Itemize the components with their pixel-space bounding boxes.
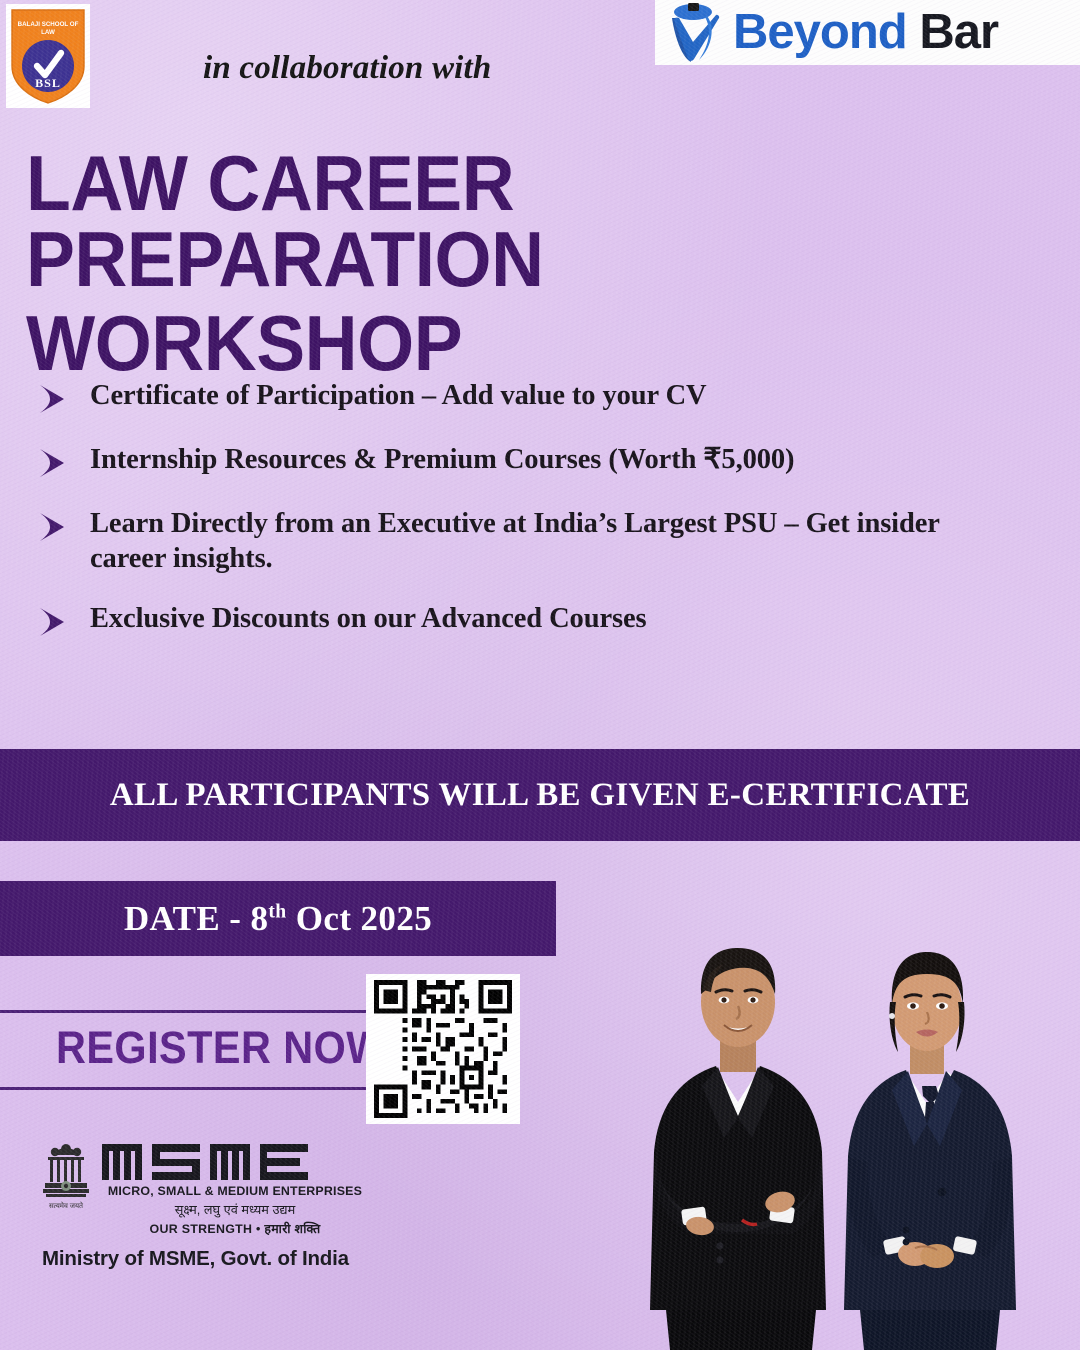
list-item: Internship Resources & Premium Courses (… [34, 442, 994, 480]
collaboration-label: in collaboration with [203, 50, 491, 87]
title-line-2: WORKSHOP [26, 306, 872, 382]
page-title: LAW CAREER PREPARATION WORKSHOP [26, 146, 872, 382]
woman-figure [844, 952, 1016, 1350]
beyond-bar-figure-icon [663, 2, 735, 64]
list-item: Certificate of Participation – Add value… [34, 378, 994, 416]
msme-line-3: OUR STRENGTH • हमारी शक्ति [102, 1220, 368, 1237]
date-badge: DATE - 8th Oct 2025 [0, 881, 556, 956]
svg-text:LAW: LAW [41, 29, 55, 36]
poster-root: BALAJI SCHOOL OF LAW BSL DISCIPLINE DEDI… [0, 0, 1080, 1350]
bar-word: Bar [919, 5, 998, 59]
msme-line-1: MICRO, SMALL & MEDIUM ENTERPRISES [102, 1184, 368, 1198]
msme-wordmark [102, 1140, 368, 1182]
svg-text:BALAJI SCHOOL OF: BALAJI SCHOOL OF [18, 21, 79, 28]
msme-logo-block: सत्यमेव जयते [38, 1138, 368, 1271]
benefit-text: Exclusive Discounts on our Advanced Cour… [90, 601, 647, 636]
beyond-bar-logo: Beyond Bar [655, 0, 1080, 65]
arrow-bullet-icon [34, 446, 76, 480]
msme-line-2: सूक्ष्म, लघु एवं मध्यम उद्यम [102, 1200, 368, 1218]
register-divider-bottom [0, 1087, 366, 1090]
arrow-bullet-icon [34, 605, 76, 639]
ashoka-emblem-icon: सत्यमेव जयते [38, 1138, 94, 1216]
date-ordinal: th [268, 901, 286, 922]
arrow-bullet-icon [34, 382, 76, 416]
certificate-banner: ALL PARTICIPANTS WILL BE GIVEN E-CERTIFI… [0, 749, 1080, 841]
benefits-list: Certificate of Participation – Add value… [34, 378, 994, 665]
two-professionals-photo [620, 890, 1080, 1350]
emblem-motto: सत्यमेव जयते [49, 1201, 84, 1210]
date-label: DATE - [124, 899, 251, 938]
register-divider-top [0, 1010, 366, 1013]
svg-text:DISCIPLINE DEDICATION DETERMIN: DISCIPLINE DEDICATION DETERMINATION [6, 102, 52, 108]
benefit-text: Internship Resources & Premium Courses (… [90, 442, 794, 477]
benefit-text: Certificate of Participation – Add value… [90, 378, 707, 413]
register-now-label[interactable]: REGISTER NOW [56, 1022, 386, 1074]
title-line-1: LAW CAREER PREPARATION [26, 139, 544, 303]
arrow-bullet-icon [34, 510, 76, 544]
beyond-word: Beyond [733, 5, 907, 59]
registration-qr-code[interactable] [366, 974, 520, 1124]
msme-caption: Ministry of MSME, Govt. of India [42, 1247, 368, 1271]
certificate-banner-text: ALL PARTICIPANTS WILL BE GIVEN E-CERTIFI… [110, 777, 970, 814]
bsl-shield-logo: BALAJI SCHOOL OF LAW BSL DISCIPLINE DEDI… [6, 4, 90, 108]
svg-text:BSL: BSL [35, 76, 61, 90]
date-text: DATE - 8th Oct 2025 [124, 899, 432, 939]
date-day: 8 [250, 899, 268, 938]
date-rest: Oct 2025 [287, 899, 433, 938]
list-item: Exclusive Discounts on our Advanced Cour… [34, 601, 994, 639]
list-item: Learn Directly from an Executive at Indi… [34, 506, 994, 577]
man-figure [650, 948, 826, 1350]
benefit-text: Learn Directly from an Executive at Indi… [90, 506, 970, 577]
